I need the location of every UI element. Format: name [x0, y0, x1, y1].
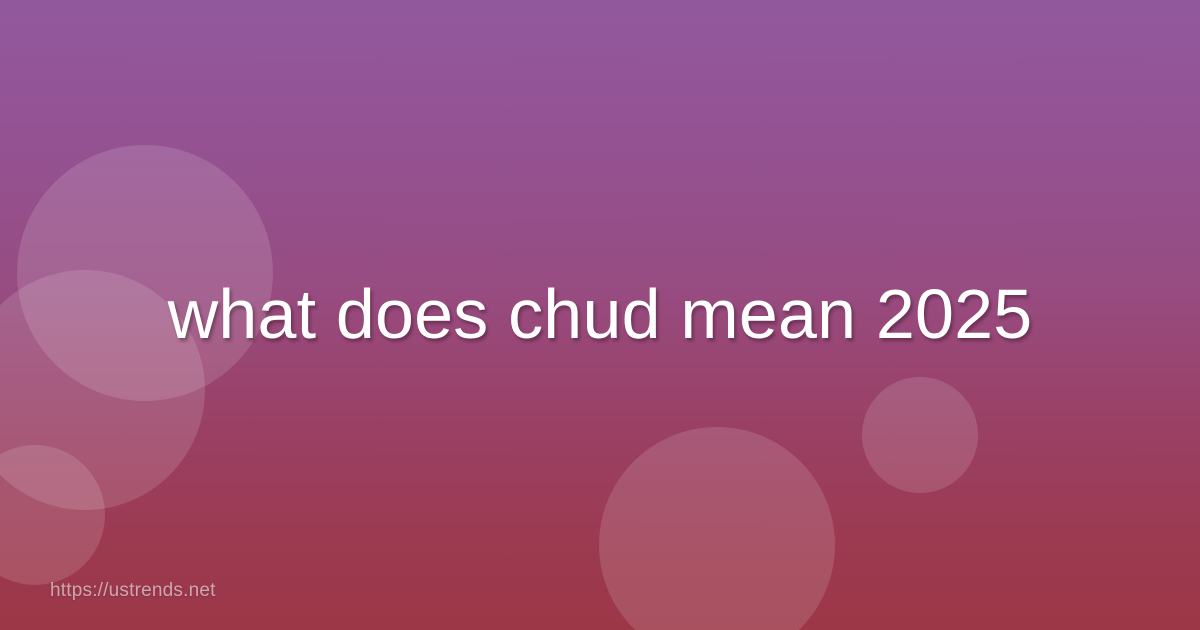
headline-container: what does chud mean 2025 — [0, 0, 1200, 630]
site-url-label: https://ustrends.net — [50, 580, 216, 602]
og-image-card: what does chud mean 2025 https://ustrend… — [0, 0, 1200, 630]
page-title: what does chud mean 2025 — [168, 277, 1033, 353]
